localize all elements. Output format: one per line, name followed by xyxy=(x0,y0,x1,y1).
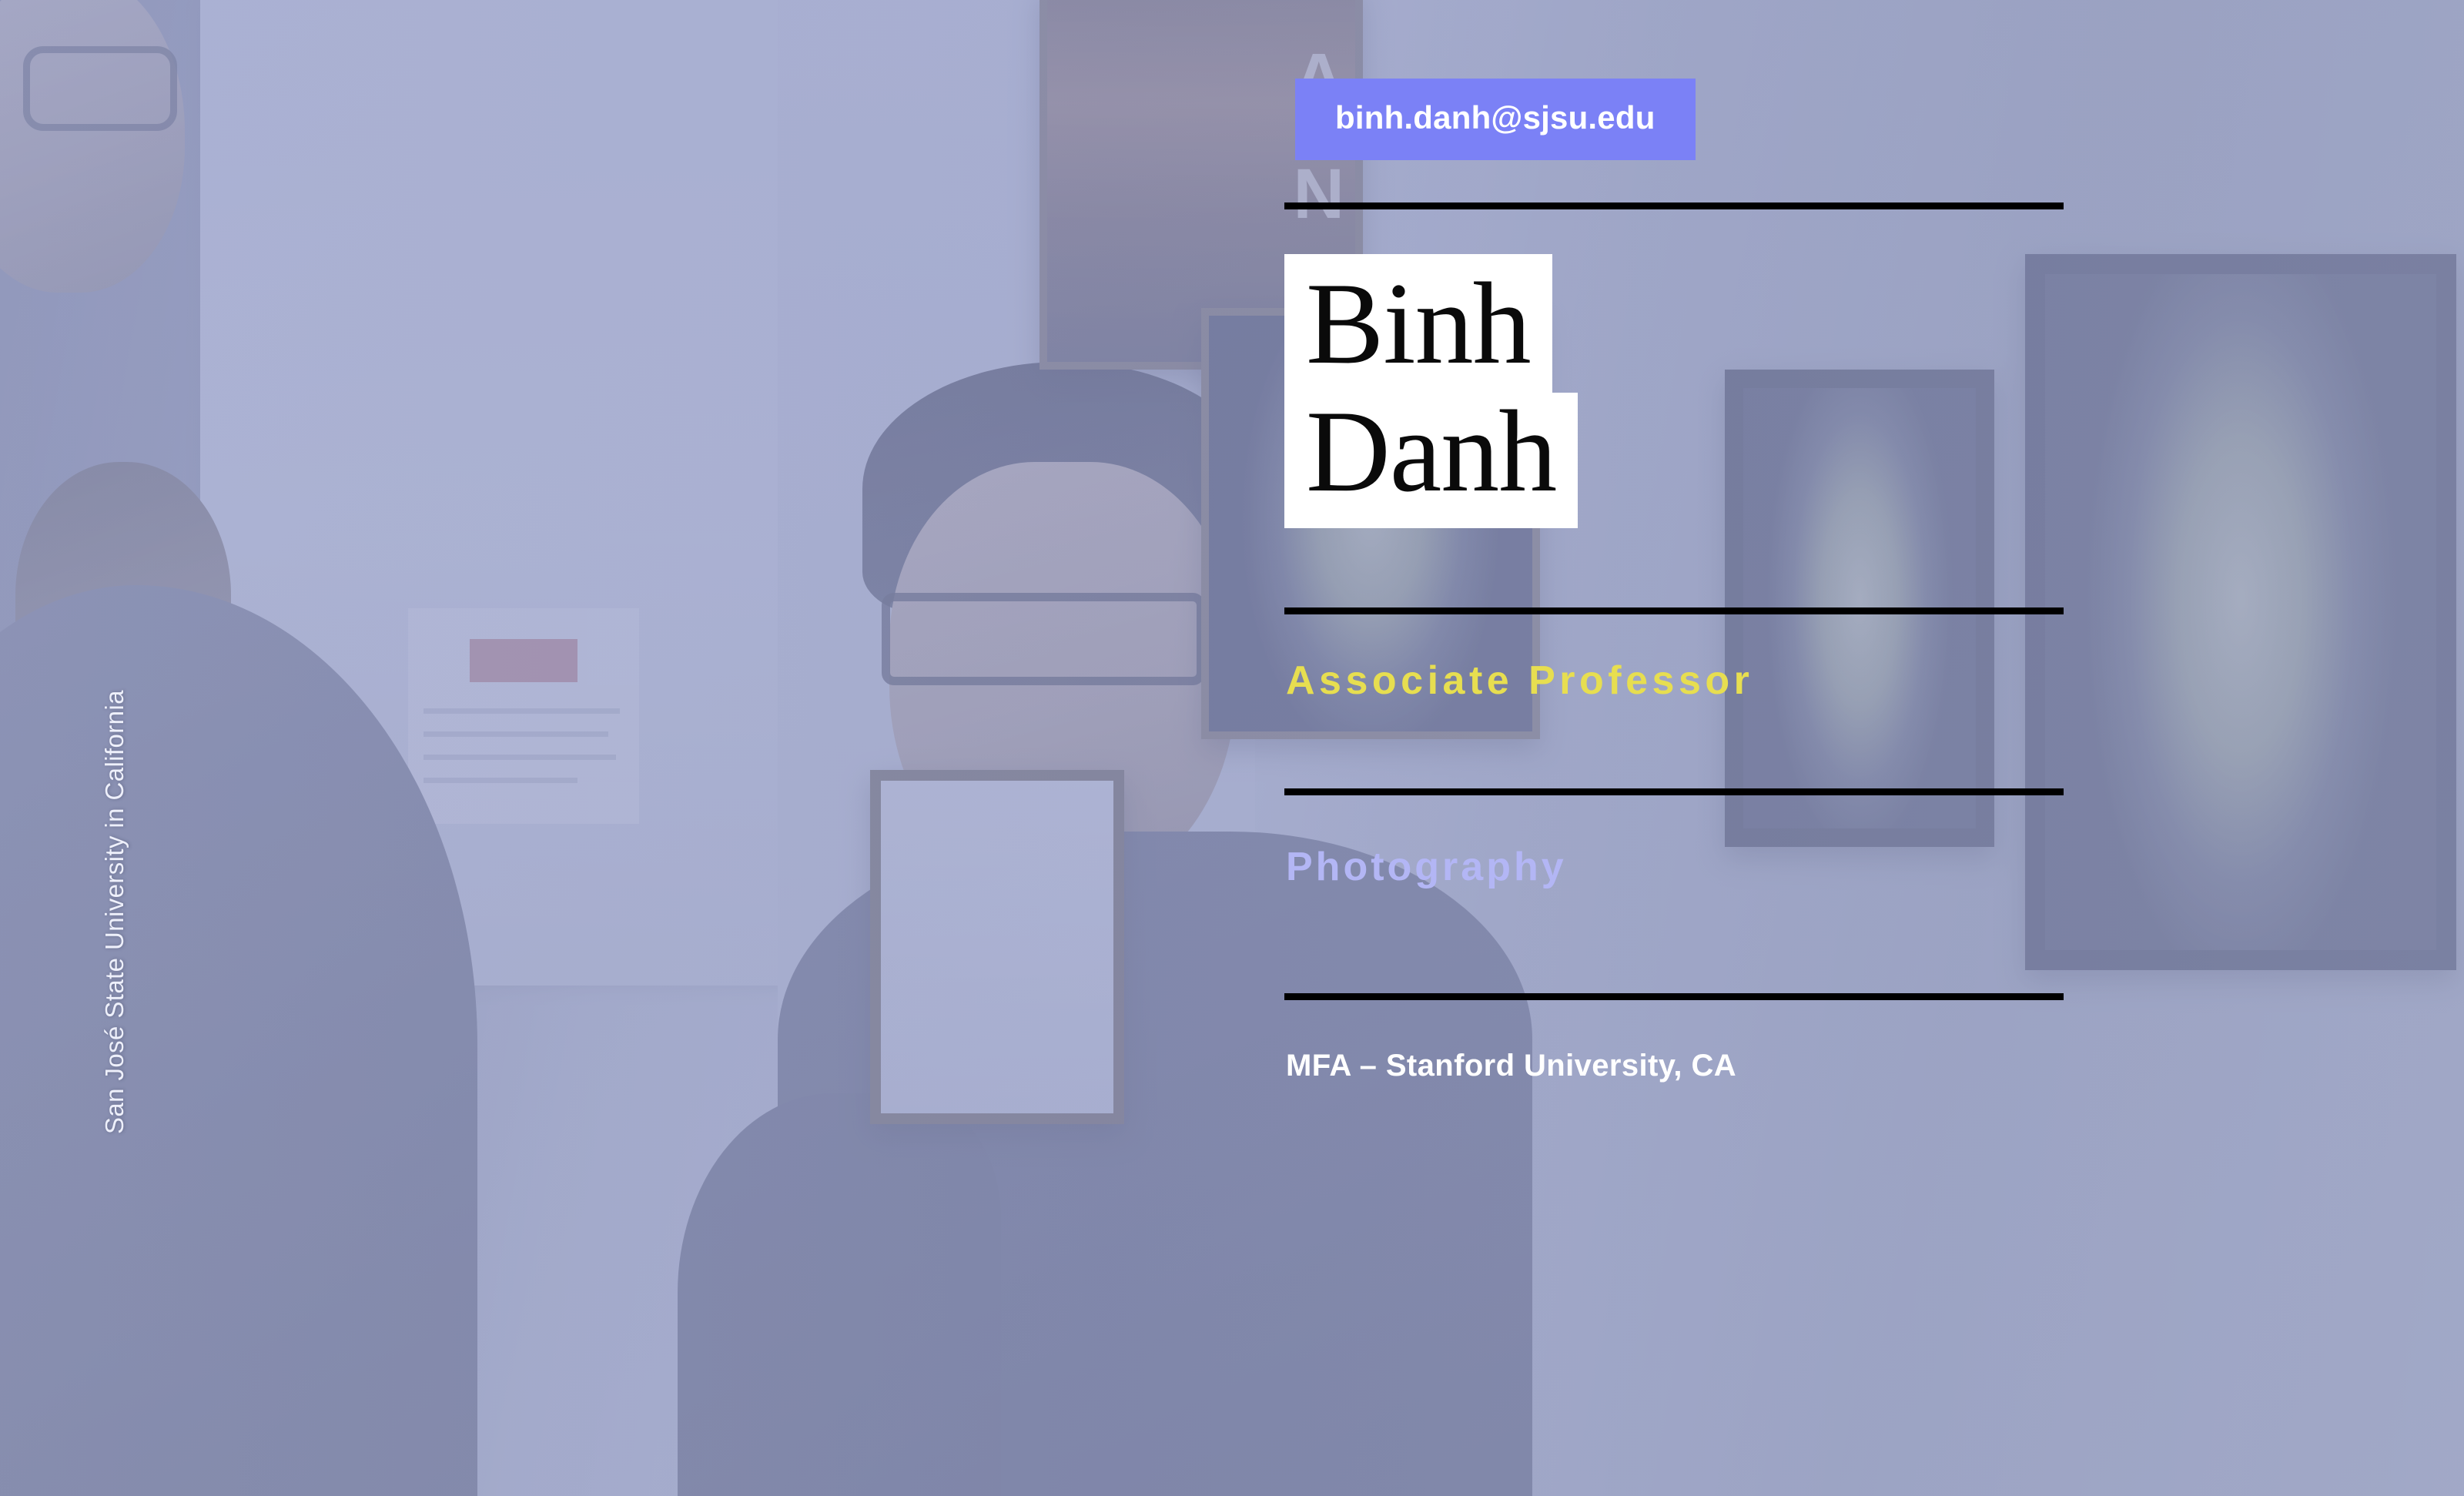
job-title: Associate Professor xyxy=(1286,658,1753,704)
education-credential: MFA – Stanford University, CA xyxy=(1286,1049,1736,1083)
divider-rule-after-title xyxy=(1284,788,2064,795)
person-name: Binh Danh xyxy=(1284,254,1578,528)
divider-rule-top xyxy=(1284,202,2064,209)
divider-rule-after-name xyxy=(1284,607,2064,614)
discipline-label: Photography xyxy=(1286,844,1567,890)
email-badge[interactable]: binh.danh@sjsu.edu xyxy=(1295,79,1696,160)
divider-rule-after-discipline xyxy=(1284,993,2064,1000)
profile-content-column: binh.danh@sjsu.edu Binh Danh Associate P… xyxy=(1284,0,2362,1496)
person-first-name: Binh xyxy=(1284,254,1552,393)
affiliation-vertical-label: San José State University in California xyxy=(100,690,129,1134)
speaker-profile-slide: A N R San José State University in Calif… xyxy=(0,0,2464,1496)
person-last-name: Danh xyxy=(1284,393,1578,528)
